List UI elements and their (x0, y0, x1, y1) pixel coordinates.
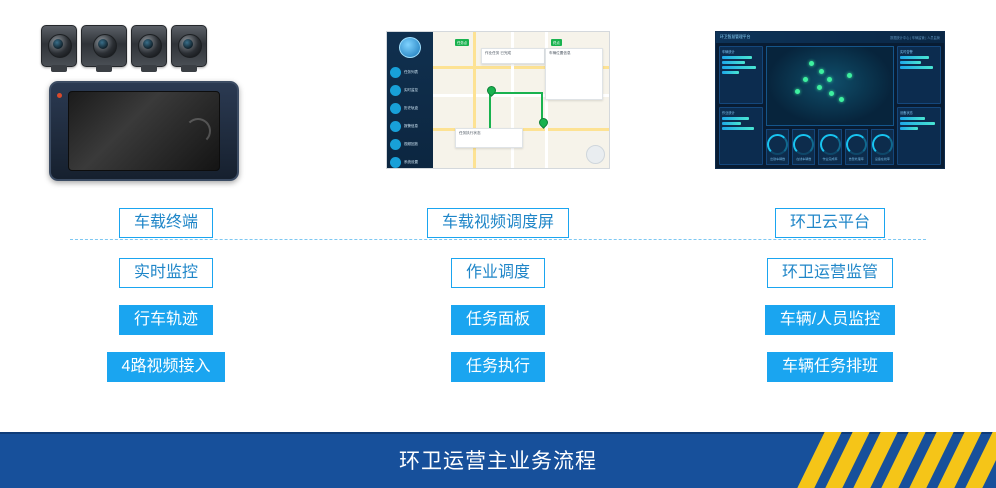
gauge-card: 在线车辆数 (792, 129, 815, 165)
gauge-ring-icon (872, 134, 893, 155)
feature-work-dispatch[interactable]: 作业调度 (451, 258, 545, 288)
stat-card: 作业统计 (719, 107, 763, 165)
feature-driving-track[interactable]: 行车轨迹 (119, 305, 213, 335)
map-node-icon (847, 73, 852, 78)
camera-icon (41, 25, 77, 67)
map-node-icon (829, 91, 834, 96)
column-title-cloud-platform: 环卫云平台 (775, 208, 885, 238)
alarm-icon (390, 121, 401, 132)
avatar (399, 37, 421, 58)
sidebar-item[interactable]: 系统设置 (390, 157, 430, 168)
vehicle-terminal-hardware-photo (41, 25, 291, 175)
footer-bar: 环卫运营主业务流程 (0, 432, 996, 488)
dashboard-body: 车辆统计 作业统计 (716, 43, 944, 168)
column-video-dispatch-screen: 任务列表 实时监控 历史轨迹 报警信息 (332, 0, 664, 400)
map-side-panel: 车辆位置信息 (545, 48, 603, 100)
feature-vehicle-task-scheduling[interactable]: 车辆任务排班 (767, 352, 893, 382)
monitor-icon (390, 85, 401, 96)
map-node-icon (817, 85, 822, 90)
map-badge: 任务点 (455, 39, 469, 46)
camera-group (41, 25, 207, 67)
power-led-icon (57, 93, 62, 98)
map-info-panel: 作业任务 已完成 (481, 48, 545, 64)
feature-realtime-monitoring[interactable]: 实时监控 (119, 258, 213, 288)
vehicle-map[interactable] (766, 46, 894, 126)
gauge-card: 出勤车辆数 (766, 129, 789, 165)
section-divider (70, 239, 926, 240)
dashboard-left-column: 车辆统计 作业统计 (719, 46, 763, 165)
dashboard-title: 环卫智慧管理平台 (720, 35, 750, 40)
feature-4ch-video-input[interactable]: 4路视频接入 (107, 352, 226, 382)
dispatch-screen-thumbnail: 任务列表 实时监控 历史轨迹 报警信息 (332, 0, 664, 200)
map-badge: 终点 (551, 39, 562, 46)
dashboard-right-column: 实时告警 设备状态 (897, 46, 941, 165)
map-node-icon (809, 61, 814, 66)
gauge-ring-icon (767, 134, 788, 155)
gauge-card: 告警处理率 (845, 129, 868, 165)
sidebar-item[interactable]: 任务列表 (390, 67, 430, 78)
dashboard-header: 环卫智慧管理平台 数据统计中心 | 车辆监管 | 人员监管 (716, 32, 944, 43)
list-icon (390, 67, 401, 78)
gauge-card: 作业完成率 (818, 129, 841, 165)
sidebar-item[interactable]: 实时监控 (390, 85, 430, 96)
column-vehicle-terminal: 车载终端 实时监控 行车轨迹 4路视频接入 (0, 0, 332, 400)
column-title-video-dispatch-screen: 车载视频调度屏 (427, 208, 569, 238)
map-status-panel: 任务执行状态 (455, 128, 523, 148)
terminal-tablet-device (49, 81, 239, 181)
footer-stripes-decoration (796, 432, 996, 488)
sidebar-item[interactable]: 视频回放 (390, 139, 430, 150)
gauge-ring-icon (846, 134, 867, 155)
device-status-card: 设备状态 (897, 107, 941, 165)
gauge-card: 设备在线率 (871, 129, 894, 165)
diagram-columns: 车载终端 实时监控 行车轨迹 4路视频接入 任务列表 实时监控 (0, 0, 996, 400)
column-cloud-platform: 环卫智慧管理平台 数据统计中心 | 车辆监管 | 人员监管 车辆统计 (664, 0, 996, 400)
video-icon (390, 139, 401, 150)
dispatch-map-screenshot: 任务列表 实时监控 历史轨迹 报警信息 (386, 31, 610, 169)
feature-task-execution[interactable]: 任务执行 (451, 352, 545, 382)
feature-task-panel[interactable]: 任务面板 (451, 305, 545, 335)
camera-icon (81, 25, 127, 67)
terminal-screen (68, 91, 220, 171)
sidebar-item[interactable]: 报警信息 (390, 121, 430, 132)
camera-icon (171, 25, 207, 67)
gauge-ring-icon (793, 134, 814, 155)
dashboard-center-column: 出勤车辆数 在线车辆数 作业完成率 (766, 46, 894, 165)
gear-icon (390, 157, 401, 168)
map-node-icon (839, 97, 844, 102)
sidebar-item[interactable]: 历史轨迹 (390, 103, 430, 114)
feature-operation-supervision[interactable]: 环卫运营监管 (767, 258, 893, 288)
map-node-icon (819, 69, 824, 74)
cloud-platform-thumbnail: 环卫智慧管理平台 数据统计中心 | 车辆监管 | 人员监管 车辆统计 (664, 0, 996, 200)
gauge-row: 出勤车辆数 在线车辆数 作业完成率 (766, 129, 894, 165)
feature-vehicle-personnel-monitoring[interactable]: 车辆/人员监控 (765, 305, 895, 335)
alarm-card: 实时告警 (897, 46, 941, 104)
dispatch-sidebar: 任务列表 实时监控 历史轨迹 报警信息 (387, 32, 433, 168)
vehicle-terminal-thumbnail (0, 0, 332, 200)
cloud-platform-dashboard-screenshot: 环卫智慧管理平台 数据统计中心 | 车辆监管 | 人员监管 车辆统计 (715, 31, 945, 169)
camera-icon (131, 25, 167, 67)
map-node-icon (803, 77, 808, 82)
stat-card: 车辆统计 (719, 46, 763, 104)
map-node-icon (795, 89, 800, 94)
gauge-ring-icon (820, 134, 841, 155)
map-node-icon (827, 77, 832, 82)
map-compass-control[interactable] (586, 145, 605, 164)
column-title-vehicle-terminal: 车载终端 (119, 208, 213, 238)
map-canvas[interactable]: 任务点 终点 作业任务 已完成 车辆位置信息 任务执行状态 (433, 32, 609, 168)
dashboard-header-nav[interactable]: 数据统计中心 | 车辆监管 | 人员监管 (890, 35, 940, 40)
track-icon (390, 103, 401, 114)
